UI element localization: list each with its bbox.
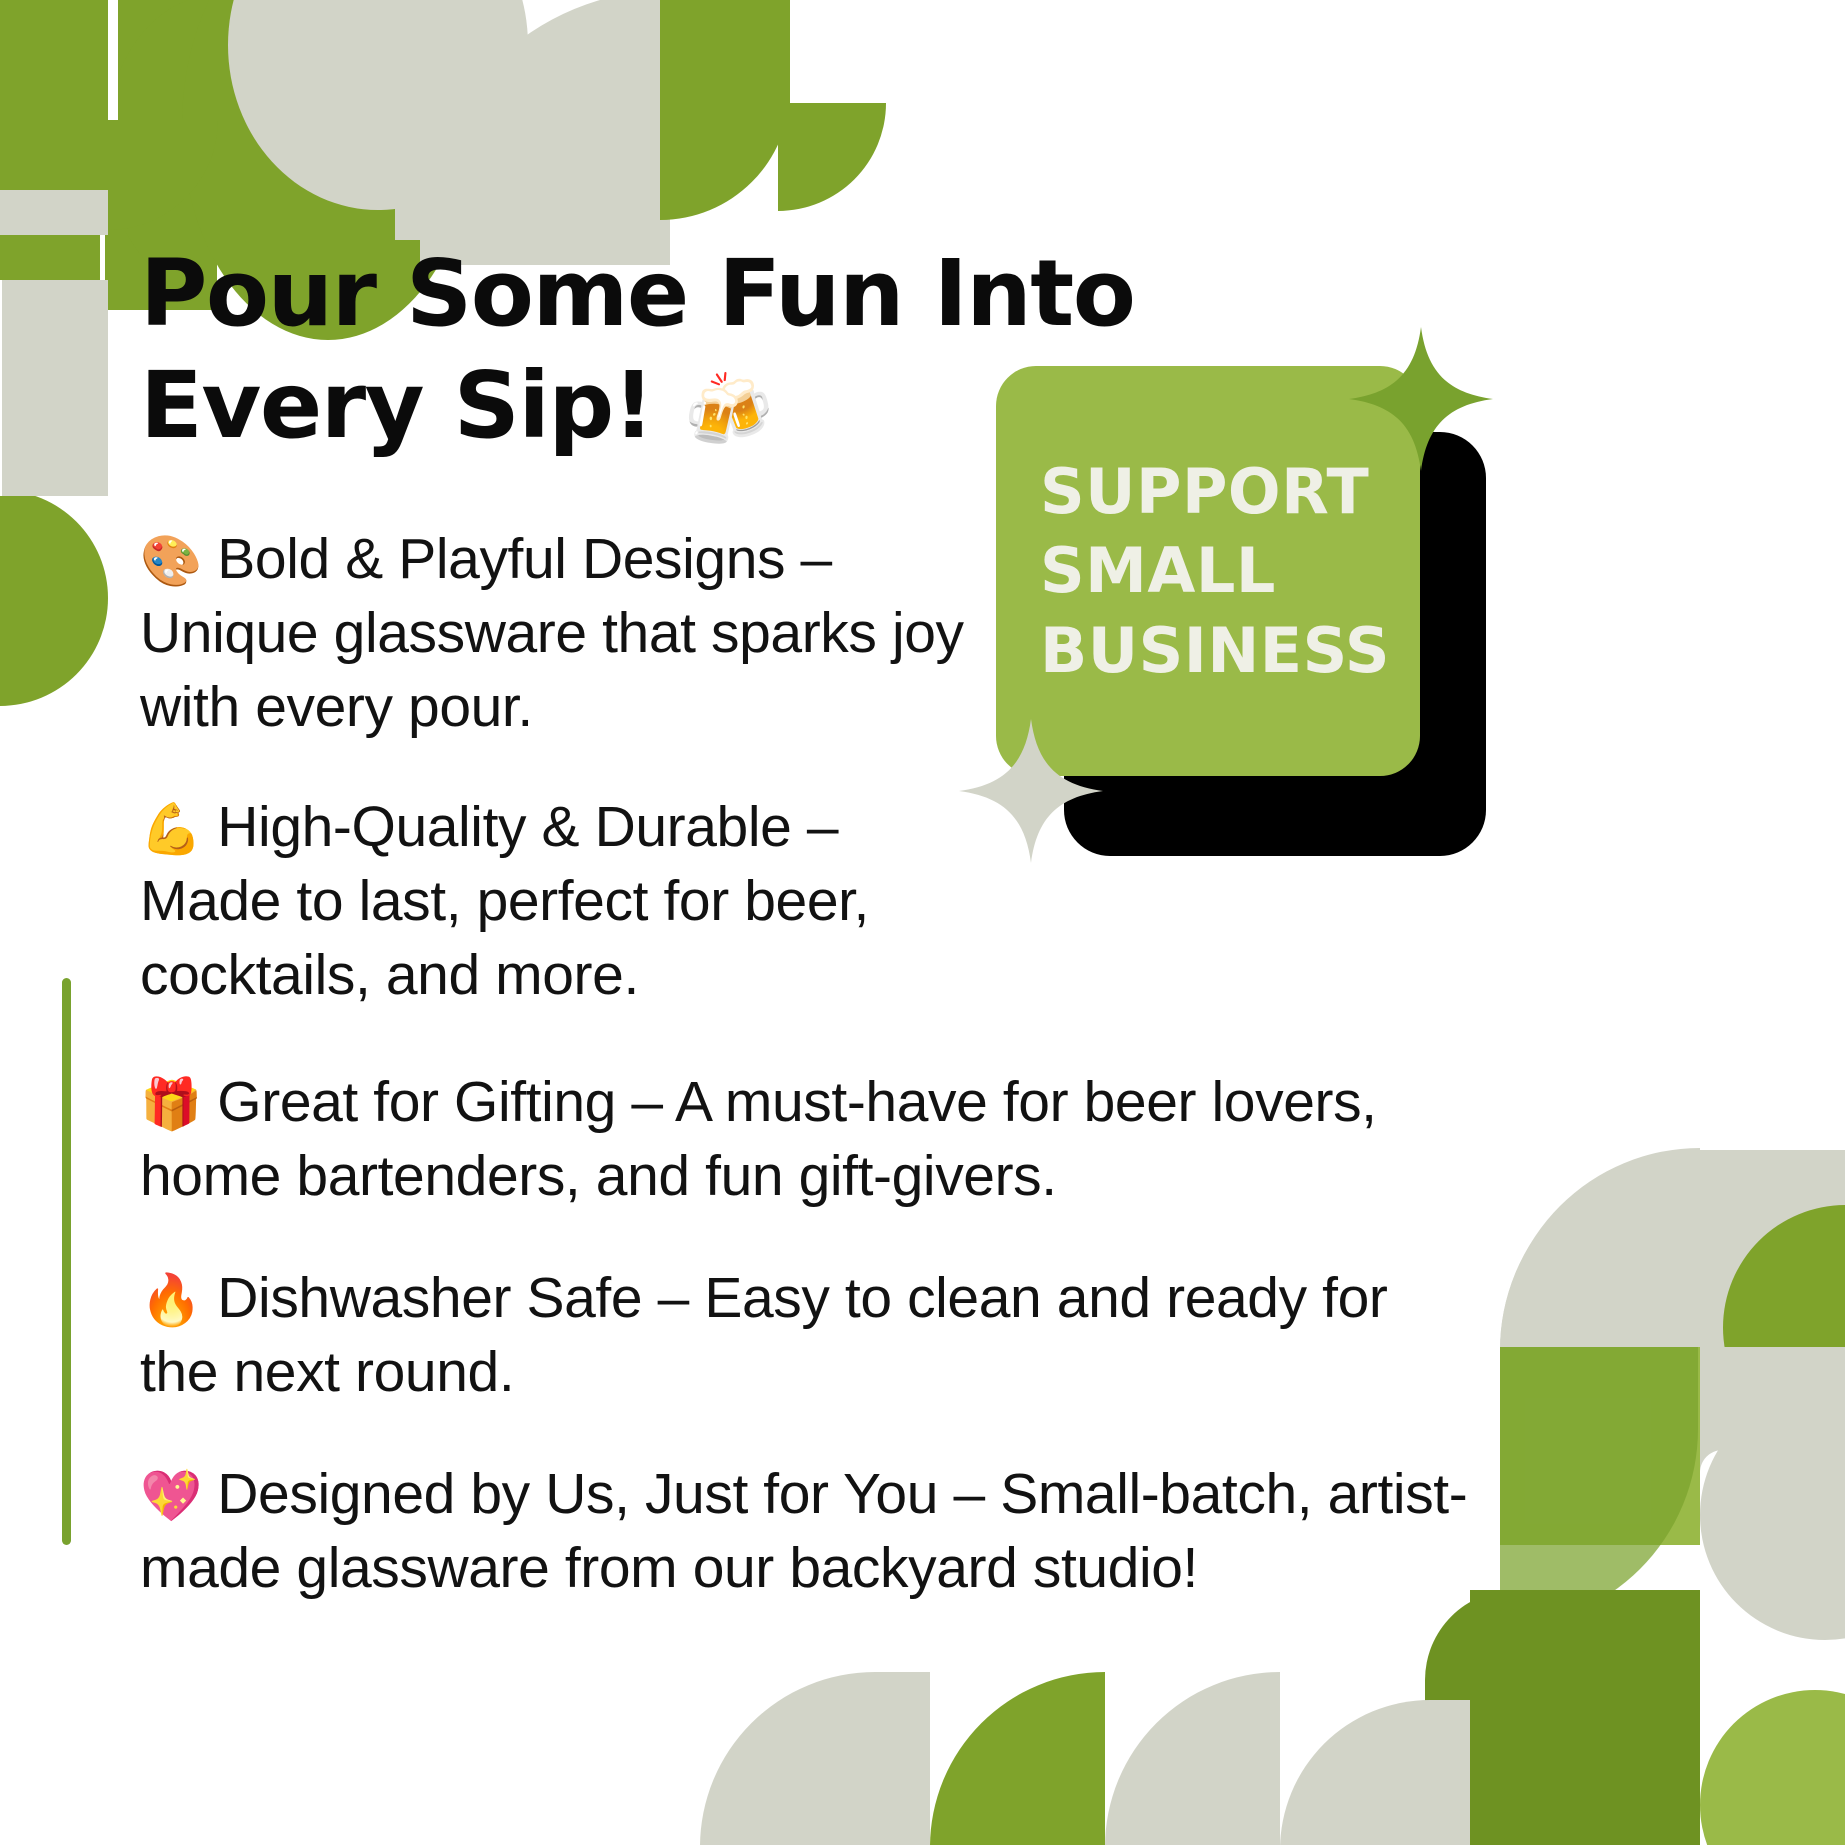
flexed-biceps-icon: 💪	[140, 801, 202, 857]
headline-line-2: Every Sip!	[140, 352, 653, 459]
list-item: 🔥 Dishwasher Safe – Easy to clean and re…	[140, 1261, 1480, 1409]
page-title: Pour Some Fun Into Every Sip! 🍻	[140, 238, 1140, 462]
list-item-text: Bold & Playful Designs – Unique glasswar…	[140, 527, 964, 739]
headline-line-2-wrap: Every Sip! 🍻	[140, 350, 1140, 462]
artist-palette-icon: 🎨	[140, 533, 202, 589]
list-item-text: Great for Gifting – A must-have for beer…	[140, 1070, 1377, 1208]
clinking-beer-mugs-icon: 🍻	[684, 368, 772, 452]
headline-line-1: Pour Some Fun Into	[140, 238, 1140, 350]
badge-text: SUPPORT SMALL BUSINESS	[996, 452, 1390, 690]
list-item: 💪 High-Quality & Durable – Made to last,…	[140, 790, 970, 1012]
accent-rule	[62, 978, 71, 1545]
list-item-text: High-Quality & Durable – Made to last, p…	[140, 795, 869, 1007]
content-layer: Pour Some Fun Into Every Sip! 🍻 🎨 Bold &…	[0, 0, 1845, 1845]
badge-line-1: SUPPORT	[1040, 452, 1390, 531]
list-item-text: Dishwasher Safe – Easy to clean and read…	[140, 1266, 1387, 1404]
wrapped-gift-icon: 🎁	[140, 1076, 202, 1132]
fire-icon: 🔥	[140, 1272, 202, 1328]
list-item: 💖 Designed by Us, Just for You – Small-b…	[140, 1457, 1480, 1605]
sparkling-heart-icon: 💖	[140, 1468, 202, 1524]
list-item-text: Designed by Us, Just for You – Small-bat…	[140, 1462, 1467, 1600]
poster-canvas: Pour Some Fun Into Every Sip! 🍻 🎨 Bold &…	[0, 0, 1845, 1845]
list-item: 🎁 Great for Gifting – A must-have for be…	[140, 1065, 1480, 1213]
support-small-business-badge: SUPPORT SMALL BUSINESS	[996, 366, 1486, 856]
badge-line-3: BUSINESS	[1040, 611, 1390, 690]
list-item: 🎨 Bold & Playful Designs – Unique glassw…	[140, 522, 970, 744]
badge-line-2: SMALL	[1040, 531, 1390, 610]
